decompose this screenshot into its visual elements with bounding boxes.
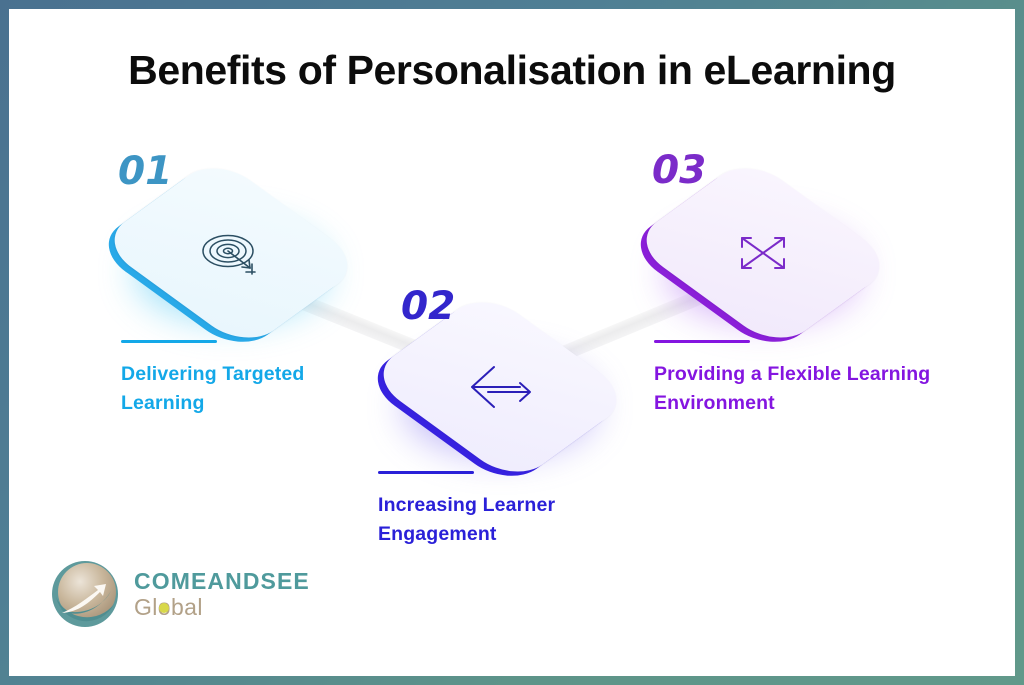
logo-name-bottom: Global — [134, 596, 203, 619]
brand-logo[interactable]: COMEANDSEE Global — [48, 557, 310, 631]
step-caption-1: Delivering Targeted Learning — [121, 340, 391, 418]
step-number-1: 01 — [118, 149, 172, 194]
step-caption-2: Increasing Learner Engagement — [378, 471, 658, 549]
caption-text-2: Increasing Learner Engagement — [378, 491, 658, 549]
poster-canvas: Benefits of Personalisation in eLearning — [9, 9, 1015, 676]
step-number-2: 02 — [401, 284, 455, 329]
step-caption-3: Providing a Flexible Learning Environmen… — [654, 340, 954, 418]
step-node-1[interactable]: 01 — [140, 162, 322, 344]
logo-wordmark: COMEANDSEE Global — [134, 570, 310, 619]
caption-rule-2 — [378, 471, 474, 474]
caption-text-1: Delivering Targeted Learning — [121, 360, 391, 418]
caption-text-3: Providing a Flexible Learning Environmen… — [654, 360, 954, 418]
logo-dot — [159, 603, 169, 613]
step-node-3[interactable]: 03 — [672, 162, 854, 344]
logo-name-top: COMEANDSEE — [134, 570, 310, 593]
caption-rule-1 — [121, 340, 217, 343]
globe-swoosh-logo — [48, 557, 122, 631]
poster-frame: Benefits of Personalisation in eLearning — [0, 0, 1024, 685]
step-node-2[interactable]: 02 — [409, 296, 591, 478]
step-number-3: 03 — [652, 148, 706, 193]
page-title: Benefits of Personalisation in eLearning — [9, 47, 1015, 94]
caption-rule-3 — [654, 340, 750, 343]
